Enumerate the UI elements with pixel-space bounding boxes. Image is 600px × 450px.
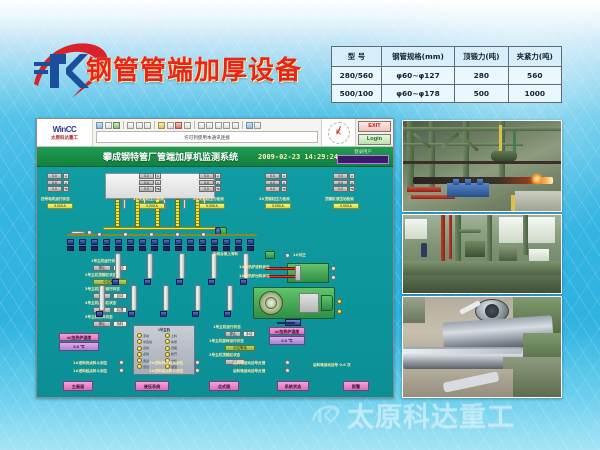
indicator-lamp [119,368,124,373]
upsetter-tail [321,295,333,311]
wincc-logo-text: WinCC [53,125,77,134]
left-status-label: 2号主机顶锻缸状态 [85,273,116,278]
gauge-value: 0.0 [265,186,280,192]
conveyor-lamp [175,232,180,237]
furnace-temp-label: 4#加热炉温度 [59,333,99,341]
indicator-lamp [195,360,200,365]
login-user-input[interactable] [337,155,389,164]
indicator-label: 1#送料起点料斗到位 [73,369,107,374]
photo-pipe-die-closeup [402,296,562,398]
zoom-icon[interactable] [184,122,191,129]
heater-rail [265,267,299,270]
conveyor-lamp [97,232,102,237]
gauge-value: 0.0 [139,173,154,179]
kda-watermark-logo [310,398,342,430]
gauge-unit: ℃ [215,186,221,192]
conveyor-lamp [201,232,206,237]
heater-rail [265,275,299,278]
col-header-model: 型 号 [332,47,382,67]
nav-button-alarm[interactable]: 报警 [343,381,369,391]
watermark-text: 太原科达重工 [347,395,515,434]
gauge-unit: V [215,180,221,186]
indicator-lamp [285,368,290,373]
gauge-total: 0.000 A [139,203,165,209]
left-status-value: 停止 [93,321,111,327]
hmi-datetime: 2009-02-23 14:29:24 [258,153,338,161]
exit-button[interactable]: EXIT [358,121,391,132]
cell-clamp-force: 1000 [508,85,561,103]
gauge-unit: A [63,173,69,179]
hmi-titlebar: 攀成钢特管厂管端加厚机监测系统 2009-02-23 14:29:24 登录用户 [37,147,393,167]
watermark: 太原科达重工 [310,392,600,436]
right-status-tag: 手动 [243,331,255,337]
heater-slide [295,265,301,281]
col-header-upset-force: 顶锻力(吨) [455,47,508,67]
open-icon[interactable] [105,122,112,129]
toolbar-divider [154,121,155,129]
gauge-value: 0.0 [199,186,214,192]
upset-temp-unit: ℃ [288,338,293,343]
left-status-value: 停止 [93,265,111,271]
paste-icon[interactable] [158,122,165,129]
page-title: 钢管管端加厚设备 [86,50,302,87]
heater-out-lamp [331,275,336,280]
furnace-temp-value: 0.0 ℃ [59,342,99,351]
undo-icon[interactable] [167,122,174,129]
conveyor-lamp [123,232,128,237]
gauge-total: 0.000 A [265,203,291,209]
alarm-note: 后料堆运动信号 0.0 次 [313,363,351,368]
gauge-value: 0.0 [333,186,348,192]
right-status-label: 1号主机运行状态 [213,325,241,330]
upsetter-lamp [337,309,342,314]
operator-select-panel: 1号主机 手动 半自动 自动 点动 调试 复位 上料 夹紧 顶锻 松开 出料 返… [133,325,195,375]
cell-upset-force: 500 [455,85,508,103]
indicator-label: 后料堆运动信号反馈 [233,369,265,374]
spec-table: 型 号 钢管规格(mm) 顶锻力(吨) 夹紧力(吨) 280/560 φ60~φ… [331,46,562,103]
cell-model: 500/100 [332,85,382,103]
gauge-value: 0.0 [139,186,154,192]
right-status-label: 1号主机旋转运行状态 [209,339,244,344]
select-lamp[interactable] [165,333,170,338]
gauge-unit: A [155,173,161,179]
conveyor-lamp [149,232,154,237]
photo-gallery [402,120,562,398]
gauge-total: 0.000 A [199,203,225,209]
select-lamp[interactable] [165,339,170,344]
right-status-label: 2号主机顶锻缸状态 [209,353,240,358]
cell-upset-force: 280 [455,67,508,85]
toolbar-divider [194,121,195,129]
indicator-label: 1#加热炉进料到位 [239,265,270,270]
gauge-group-label: 顶锻缸液压站检测 [325,197,354,202]
left-status-tag: 后退 [113,307,127,313]
select-option-label[interactable]: 松开 [171,352,177,356]
gauge-unit: A [215,173,221,179]
center-table-lamp [285,253,290,258]
gauge-group-label: 1#夹紧缸压力检测 [133,197,164,202]
gauge-total: 0.000 A [47,203,73,209]
indicator-label: 1#对正 [293,253,306,258]
gauge-value: 0.0 [139,180,154,186]
right-status-value: 中位等待 [225,345,255,351]
photo-machine-area [402,214,562,294]
gauge-group: 0.0A 0.0V 0.0℃ [199,173,221,193]
gauge-group: 0.0A 0.0V 0.0℃ [333,173,355,193]
copy-icon[interactable] [144,122,151,129]
select-lamp[interactable] [165,352,170,357]
gauge-group-label: 2#夹紧缸压力检测 [193,197,224,202]
indicator-label: 中间台架上有料 [213,252,238,257]
hmi-window: WinCC 太原科达重工 [36,118,394,398]
gauge-value: 0.0 [199,173,214,179]
cell-pipe-spec: φ60~φ178 [381,85,454,103]
gauge-unit: ℃ [155,186,161,192]
upsetter-lamp [337,299,342,304]
indicator-lamp [119,360,124,365]
toolbar-divider [123,121,124,129]
save-icon[interactable] [113,122,120,129]
left-status-tag: 自动 [113,293,127,299]
coil-center [265,297,277,309]
gauge-value: 0.0 [333,180,348,186]
hmi-toolbar-area: WinCC 太原科达重工 [37,119,393,147]
nav-button-system-status[interactable]: 系统状态 [277,381,309,391]
redo-icon[interactable] [175,122,182,129]
font-icon[interactable] [198,122,205,129]
die-bore [485,304,499,318]
select-lamp[interactable] [137,346,142,351]
upset-temp-pill: 4#加热炉温度 [269,327,305,335]
col-header-pipe-spec: 钢管规格(mm) [381,47,454,67]
upset-temp-value: 0.0 ℃ [269,336,305,345]
gauge-unit: ℃ [63,186,69,192]
wincc-branding: WinCC 太原科达重工 [37,119,93,146]
select-option-label[interactable]: 自动 [143,346,149,350]
press-column [175,199,180,227]
col-header-clamp-force: 夹紧力(吨) [508,47,561,67]
cell-model: 280/560 [332,67,382,85]
gauge-unit: V [155,180,161,186]
gauge-unit: ℃ [349,186,355,192]
gauge-value: 0.0 [199,180,214,186]
indicator-label: 1#加热炉出料到位 [239,274,270,279]
press-column [115,199,120,227]
indicator-label: 1#送料终点料斗到位 [73,361,107,366]
press-bottom-beam [103,227,219,230]
toolbar-divider [242,121,243,129]
indicator-label: 2#送料终点料斗到位 [149,361,183,366]
print-icon[interactable] [127,122,134,129]
upsetter-pipe [277,322,295,324]
gauge-unit: ℃ [281,186,287,192]
login-button[interactable]: Login [358,134,391,145]
pipe-highlight [403,349,521,354]
gauge-value: 0.0 [47,180,62,186]
gauge-group: 0.0A 0.0V 0.0℃ [265,173,287,193]
toolbar: 许可到使用本通讯连接 [93,119,321,146]
heater-in-lamp [331,266,336,271]
wincc-company-text: 太原科达重工 [51,135,78,141]
select-lamp[interactable] [137,364,142,369]
indicator-label: 后料堆运动信号反馈 [233,361,265,366]
new-icon[interactable] [96,122,103,129]
right-status-value: 停止 [225,331,241,337]
gauge-unit: A [349,173,355,179]
help-icon[interactable] [254,122,261,129]
gauge-group-label: 四号电机运行状态 [41,197,70,202]
dial-gauge-icon: K [328,122,350,144]
select-lamp[interactable] [137,358,142,363]
color-icon[interactable] [206,122,213,129]
gauge-total: 0.000 A [333,203,359,209]
select-lamp[interactable] [137,333,142,338]
gauge-group-label: 3#顶锻缸压力检测 [259,197,290,202]
select-option-label[interactable]: 手动 [143,334,149,338]
nav-button-hydraulics[interactable]: 液压系统 [135,381,169,391]
select-lamp[interactable] [137,352,142,357]
status-dial: K [321,119,355,146]
gauge-value: 0.0 [265,173,280,179]
upsetter-die-block [299,293,319,313]
cell-clamp-force: 560 [508,67,561,85]
hmi-action-buttons: EXIT Login [355,119,393,146]
press-rod [183,199,186,209]
lock-icon[interactable] [232,122,239,129]
login-user-field[interactable]: 登录用户 [337,149,389,164]
gauge-value: 0.0 [265,180,280,186]
grid-icon[interactable] [215,122,222,129]
run-icon[interactable] [246,122,253,129]
select-option-label[interactable]: 顶锻 [171,346,177,350]
upset-temp-label: 4#加热炉温度 [275,329,299,334]
indicator-lamp [285,360,290,365]
table-header-row: 型 号 钢管规格(mm) 顶锻力(吨) 夹紧力(吨) [332,47,562,67]
indicator-label: 2#送料起点料斗到位 [149,369,183,374]
select-lamp[interactable] [165,346,170,351]
gauge-unit: V [63,180,69,186]
gauge-value: 0.0 [47,186,62,192]
nav-button-trend[interactable]: 点式图 [209,381,239,391]
address-bar-text: 许可到使用本通讯连接 [97,132,317,144]
gauge-value: 0.0 [47,173,62,179]
gauge-unit: V [349,180,355,186]
heater-feed-unit [287,263,329,283]
table-row: 280/560 φ60~φ127 280 560 [332,67,562,85]
gauge-value: 0.0 [333,173,348,179]
table-row: 500/100 φ60~φ178 500 1000 [332,85,562,103]
page-header: 钢管管端加厚设备 [0,36,330,94]
address-bar[interactable]: 许可到使用本通讯连接 [96,131,318,143]
nav-button-main[interactable]: 主画面 [63,381,93,391]
cut-icon[interactable] [136,122,143,129]
select-option-label[interactable]: 夹紧 [171,340,177,344]
gauge-group: 0.0A 0.0V 0.0℃ [139,173,161,193]
hmi-canvas: 0.0A 0.0V 0.0℃ 四号电机运行状态 0.000 A 0.0A 0.0… [37,167,393,398]
press-rod [123,199,126,209]
furnace-temp-number: 0.0 [73,344,79,349]
gauge-unit: V [281,180,287,186]
upset-temp-number: 0.0 [281,338,287,343]
furnace-temp-unit: ℃ [80,344,85,349]
left-status-tag: 待料 [113,321,127,327]
gauge-unit: A [281,173,287,179]
align-icon[interactable] [223,122,230,129]
gauge-group: 0.0A 0.0V 0.0℃ [47,173,69,193]
aligner-unit [265,251,275,259]
cell-pipe-spec: φ60~φ127 [381,67,454,85]
select-option-label[interactable]: 点动 [143,352,149,356]
left-status-value: 中位等待 [93,279,127,285]
indicator-lamp [195,368,200,373]
conveyor-rail [67,234,257,236]
select-lamp[interactable] [137,339,142,344]
photo-factory-hall-hot-pipe [402,120,562,212]
select-option-label[interactable]: 半自动 [143,340,152,344]
dial-label: K [336,129,341,136]
hmi-system-title: 攀成钢特管厂管端加厚机监测系统 [103,150,238,163]
select-option-label[interactable]: 上料 [171,334,177,338]
